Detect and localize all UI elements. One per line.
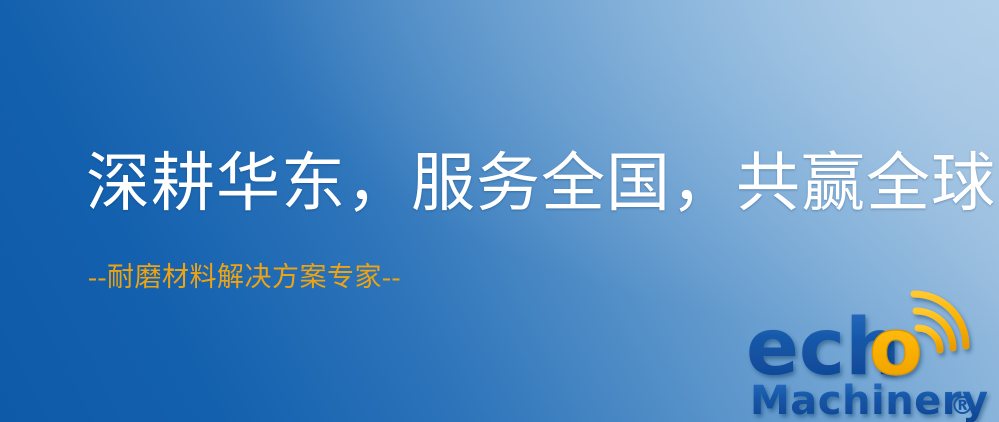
echo-machinery-logo[interactable]: ech o Machinery ®	[744, 292, 994, 422]
registered-trademark-icon: ®	[950, 391, 975, 420]
logo-artwork: ech o Machinery ®	[744, 292, 994, 422]
banner-subtitle: --耐磨材料解决方案专家--	[88, 264, 401, 291]
promo-banner: 深耕华东，服务全国，共赢全球 --耐磨材料解决方案专家--	[0, 0, 999, 422]
banner-headline: 深耕华东，服务全国，共赢全球	[86, 152, 996, 216]
